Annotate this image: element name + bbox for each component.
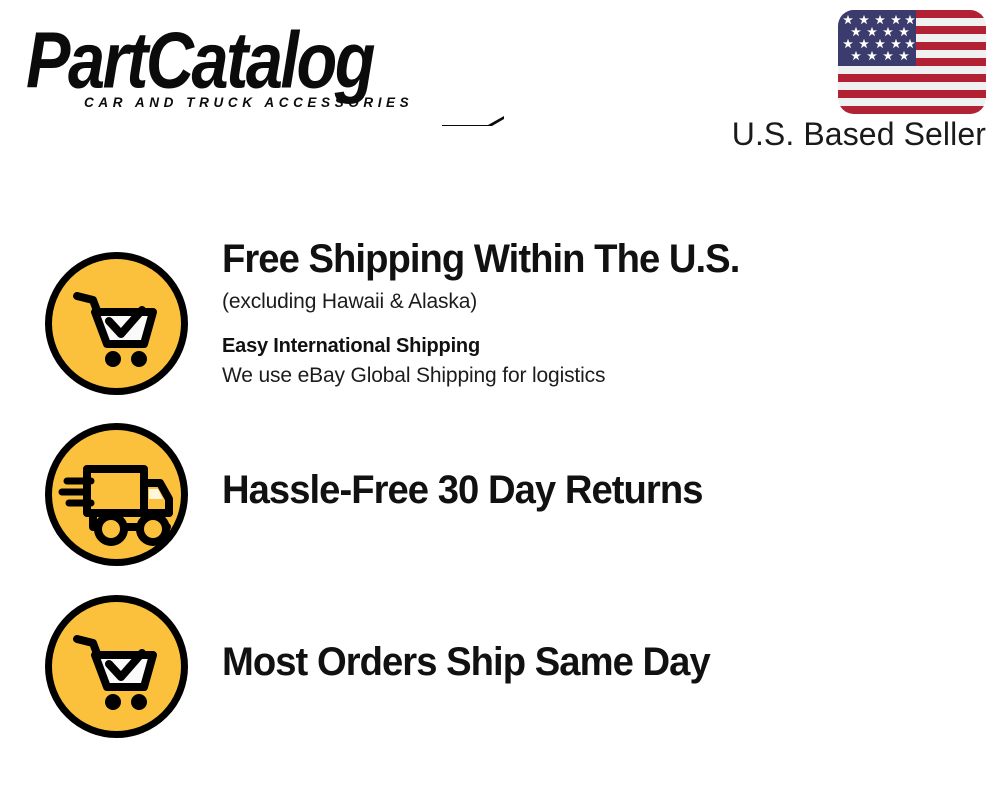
feature-headline: Free Shipping Within The U.S. [222,238,955,280]
delivery-truck-icon [43,421,190,568]
feature-text-block: Free Shipping Within The U.S. (excluding… [222,238,990,389]
feature-subline: (excluding Hawaii & Alaska) [222,288,990,315]
brand-logo[interactable]: PartCatalog CAR AND TRUCK ACCESSORIES [22,20,492,120]
brand-wordmark: PartCatalog [26,20,483,100]
shopping-cart-check-icon [43,593,190,740]
feature-subline-strong: Easy International Shipping [222,333,990,359]
us-based-seller-label: U.S. Based Seller [732,118,986,150]
feature-row: Hassle-Free 30 Day Returns [0,420,1000,570]
us-flag-icon [838,10,986,114]
feature-row: Free Shipping Within The U.S. (excluding… [0,238,1000,410]
feature-subline-light: We use eBay Global Shipping for logistic… [222,362,990,389]
feature-row: Most Orders Ship Same Day [0,592,1000,742]
feature-text-block: Hassle-Free 30 Day Returns [222,469,990,511]
feature-headline: Most Orders Ship Same Day [222,641,955,683]
page-header: PartCatalog CAR AND TRUCK ACCESSORIES [0,0,1000,175]
shopping-cart-check-icon [43,250,190,397]
logo-swoosh-icon [442,116,504,126]
feature-text-block: Most Orders Ship Same Day [222,641,990,683]
feature-headline: Hassle-Free 30 Day Returns [222,469,955,511]
